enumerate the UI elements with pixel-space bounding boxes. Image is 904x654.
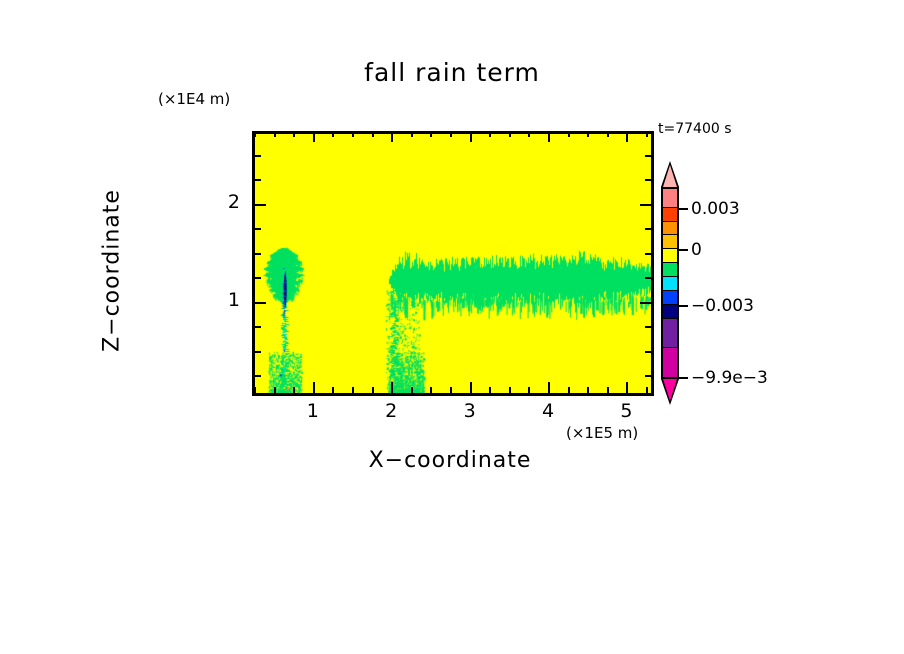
colorbar-tick <box>679 377 688 379</box>
x-axis-minor-tick <box>607 387 609 393</box>
x-axis-minor-tick <box>607 131 609 137</box>
x-axis-minor-tick <box>509 131 511 137</box>
x-axis-minor-tick <box>568 131 570 137</box>
y-axis-minor-tick <box>645 277 651 279</box>
x-axis-major-tick <box>391 382 393 393</box>
x-axis-minor-tick <box>489 387 491 393</box>
colorbar-band <box>663 222 677 236</box>
x-axis-minor-tick <box>372 387 374 393</box>
x-axis-tick-label: 2 <box>371 400 411 422</box>
y-axis-minor-tick <box>255 326 261 328</box>
x-axis-major-tick <box>470 382 472 393</box>
y-axis-minor-tick <box>645 155 651 157</box>
y-axis-minor-tick <box>255 155 261 157</box>
x-axis-minor-tick <box>411 387 413 393</box>
x-axis-minor-tick <box>274 131 276 137</box>
y-axis-major-tick <box>255 302 266 304</box>
x-axis-major-tick <box>626 382 628 393</box>
x-axis-minor-tick <box>528 387 530 393</box>
x-axis-minor-tick <box>332 387 334 393</box>
x-axis-minor-tick <box>450 131 452 137</box>
y-axis-title: Z−coordinate <box>100 121 125 421</box>
x-axis-minor-tick <box>352 387 354 393</box>
colorbar-top-arrow <box>661 161 679 187</box>
colorbar-tick-label: −0.003 <box>691 296 754 316</box>
x-axis-tick-label: 4 <box>528 400 568 422</box>
y-axis-minor-tick <box>645 351 651 353</box>
colorbar-band <box>663 249 677 263</box>
colorbar-band <box>663 277 677 291</box>
colorbar-tick-label: 0.003 <box>691 199 740 219</box>
y-axis-minor-tick <box>255 253 261 255</box>
colorbar-arrow-fill <box>663 379 677 401</box>
x-axis-minor-tick <box>489 131 491 137</box>
x-axis-minor-tick <box>509 387 511 393</box>
colorbar-band <box>663 189 677 208</box>
x-axis-tick-label: 5 <box>606 400 646 422</box>
colorbar-bottom-arrow <box>661 379 679 405</box>
y-axis-minor-tick <box>255 351 261 353</box>
time-annotation: t=77400 s <box>658 121 732 137</box>
x-axis-title: X−coordinate <box>252 448 648 473</box>
x-axis-major-tick <box>313 131 315 142</box>
colorbar[interactable]: 0.0030−0.003−9.9e−3 <box>661 163 679 403</box>
x-axis-minor-tick <box>646 131 648 137</box>
x-axis-minor-tick <box>293 131 295 137</box>
colorbar-bands <box>661 187 679 379</box>
x-axis-minor-tick <box>254 387 256 393</box>
colorbar-tick-label: 0 <box>691 240 702 260</box>
y-axis-minor-tick <box>255 179 261 181</box>
y-axis-minor-tick <box>645 375 651 377</box>
x-axis-minor-tick <box>293 387 295 393</box>
x-axis-minor-tick <box>274 387 276 393</box>
y-axis-minor-tick <box>645 326 651 328</box>
colorbar-tick <box>679 305 688 307</box>
y-axis-minor-tick <box>645 253 651 255</box>
y-axis-major-tick <box>640 204 651 206</box>
heatmap-canvas <box>255 134 651 393</box>
colorbar-band <box>663 263 677 277</box>
z-axis-unit-label: (×1E4 m) <box>158 90 230 108</box>
x-axis-major-tick <box>391 131 393 142</box>
x-axis-major-tick <box>548 382 550 393</box>
y-axis-major-tick <box>640 302 651 304</box>
colorbar-tick <box>679 208 688 210</box>
page-title: fall rain term <box>0 58 904 87</box>
x-axis-minor-tick <box>568 387 570 393</box>
colorbar-band <box>663 208 677 222</box>
x-axis-major-tick <box>626 131 628 142</box>
x-axis-unit-label: (×1E5 m) <box>566 424 638 442</box>
x-axis-minor-tick <box>372 131 374 137</box>
x-axis-major-tick <box>313 382 315 393</box>
colorbar-band <box>663 348 677 377</box>
x-axis-minor-tick <box>587 387 589 393</box>
x-axis-minor-tick <box>587 131 589 137</box>
x-axis-minor-tick <box>430 387 432 393</box>
colorbar-tick-label: −9.9e−3 <box>691 368 768 388</box>
plot-area[interactable] <box>252 131 654 396</box>
y-axis-minor-tick <box>645 228 651 230</box>
y-axis-minor-tick <box>255 375 261 377</box>
y-axis-minor-tick <box>255 277 261 279</box>
x-axis-minor-tick <box>332 131 334 137</box>
x-axis-minor-tick <box>646 387 648 393</box>
colorbar-band <box>663 291 677 305</box>
y-axis-tick-label: 2 <box>200 191 240 213</box>
colorbar-band <box>663 305 677 319</box>
x-axis-major-tick <box>470 131 472 142</box>
y-axis-tick-label: 1 <box>200 289 240 311</box>
x-axis-minor-tick <box>254 131 256 137</box>
x-axis-minor-tick <box>528 131 530 137</box>
y-axis-minor-tick <box>645 179 651 181</box>
x-axis-tick-label: 1 <box>293 400 333 422</box>
x-axis-tick-label: 3 <box>450 400 490 422</box>
y-axis-major-tick <box>255 204 266 206</box>
x-axis-minor-tick <box>411 131 413 137</box>
x-axis-minor-tick <box>430 131 432 137</box>
x-axis-major-tick <box>548 131 550 142</box>
colorbar-tick <box>679 249 688 251</box>
colorbar-arrow-fill <box>663 165 677 187</box>
colorbar-band <box>663 319 677 348</box>
x-axis-minor-tick <box>352 131 354 137</box>
colorbar-band <box>663 235 677 249</box>
y-axis-minor-tick <box>255 228 261 230</box>
x-axis-minor-tick <box>450 387 452 393</box>
